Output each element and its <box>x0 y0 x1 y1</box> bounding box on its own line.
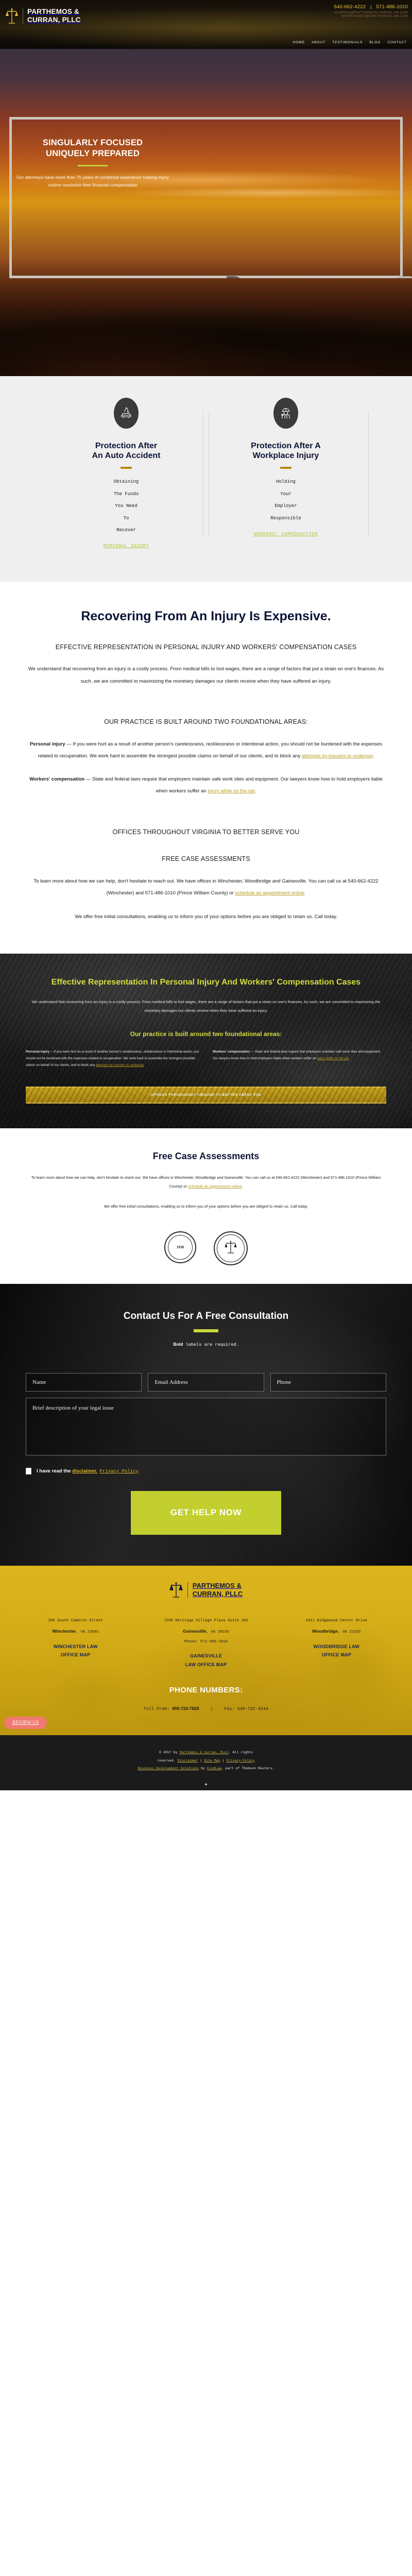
card-word: Your <box>217 488 354 500</box>
card-word: Responsible <box>217 513 354 524</box>
footer-privacy-link[interactable]: Privacy Policy <box>227 1759 255 1762</box>
hero-title-line-1: SINGULARLY FOCUSED <box>43 138 143 147</box>
business-development-link[interactable]: Business Development Solutions <box>138 1767 199 1770</box>
header-phone-2[interactable]: 571-486-1010 <box>376 4 408 10</box>
office-gainesville: 7250 Heritage Village Plaza Suite 202 Ga… <box>141 1616 271 1669</box>
personal-injury-paragraph: Personal injury — If you were hurt as a … <box>26 738 386 762</box>
association-seal-icon: 1938 <box>164 1231 196 1263</box>
car-fire-icon <box>114 398 139 429</box>
practice-areas-heading: OUR PRACTICE IS BUILT AROUND TWO FOUNDAT… <box>26 717 386 727</box>
office-map-link[interactable]: GAINESVILLE LAW OFFICE MAP <box>145 1652 267 1669</box>
header-phone-1[interactable]: 540-662-4222 <box>334 4 366 10</box>
name-field-placeholder: Name <box>32 1379 46 1385</box>
association-badges: 1938 <box>31 1231 381 1265</box>
dark-pi-paragraph: Personal injury —If you were hurt as a r… <box>26 1049 199 1069</box>
footer-scales-of-justice-icon <box>169 1581 183 1599</box>
site-header: PARTHEMOS & CURRAN, PLLC 540-662-4222 | … <box>0 0 412 49</box>
map-link-line-1: WOODBRIDGE LAW <box>314 1644 359 1649</box>
offices-heading: OFFICES THROUGHOUT VIRGINIA TO BETTER SE… <box>26 827 386 837</box>
hero-accent-rule <box>78 165 108 166</box>
nav-item-about[interactable]: ABOUT <box>312 41 325 44</box>
copyright-firm-link[interactable]: Parthemos & Curran, PLLC <box>180 1751 229 1754</box>
office-addresses: 206 South Cameron Street Winchester, VA … <box>10 1616 402 1669</box>
dark-section-heading: Effective Representation In Personal Inj… <box>26 976 386 988</box>
consent-text-lead: I have read the <box>37 1468 72 1474</box>
contact-heading: Contact Us For A Free Consultation <box>26 1311 386 1322</box>
card-word: To <box>58 513 195 524</box>
header-contact: 540-662-4222 | 571-486-1010 JCURRAN@PART… <box>334 4 408 18</box>
phone-separator: | <box>370 4 372 10</box>
name-field[interactable]: Name <box>26 1373 142 1392</box>
card-word: Obtaining <box>58 476 195 488</box>
attorneys-photo <box>227 120 412 278</box>
practice-card-workplace-injury: Protection After A Workplace Injury Hold… <box>206 398 366 550</box>
wc-inline-link[interactable]: injury while on the job <box>208 788 254 794</box>
by-text: by <box>199 1767 207 1770</box>
brand-line-1: PARTHEMOS & <box>27 8 79 15</box>
hero-title-line-2: UNIQUELY PREPARED <box>46 149 140 158</box>
card-link-personal-injury[interactable]: PERSONAL INJURY <box>104 544 149 549</box>
content-intro-paragraph: We understand that recovering from an in… <box>26 663 386 687</box>
toll-free-number[interactable]: 800-724-7828 <box>172 1706 199 1711</box>
privacy-policy-link[interactable]: Privacy Policy <box>99 1469 139 1474</box>
assessments-paragraph: To learn more about how we can help, don… <box>31 1173 381 1191</box>
card-title-line-1: Protection After <box>95 442 157 450</box>
copyright-line-3: Business Development Solutions by FindLa… <box>0 1765 412 1773</box>
dark-section-intro: We understand that recovering from an in… <box>26 997 386 1015</box>
brand-line-2: CURRAN, PLLC <box>27 16 81 24</box>
practice-card-title: Protection After A Workplace Injury <box>217 441 354 461</box>
map-link-line-2: OFFICE MAP <box>322 1652 352 1657</box>
office-state-zip: , VA 22601 <box>76 1630 99 1634</box>
wc-label: Workers' compensation <box>29 776 84 782</box>
map-link-line-1: GAINESVILLE <box>190 1653 222 1658</box>
assessments-consult-paragraph: We offer free initial consultations, ena… <box>31 1202 381 1211</box>
footer-disclaimer-link[interactable]: Disclaimer <box>178 1759 198 1762</box>
card-title-line-2: Workplace Injury <box>253 451 319 460</box>
dark-practice-heading: Our practice is built around two foundat… <box>26 1030 386 1038</box>
phone-line-separator: | <box>210 1706 213 1711</box>
dark-wc-link[interactable]: injury while on the job <box>317 1057 349 1060</box>
office-state-zip: , VA 22192 <box>338 1630 360 1634</box>
required-fields-note: Bold labels are required. <box>26 1342 386 1347</box>
office-city-state: Winchester, VA 22601 <box>14 1626 136 1637</box>
header-email-1[interactable]: JCURRAN@PARTHEMOSCURRANLAW.COM <box>334 11 408 14</box>
practice-card-auto-accident: Protection After An Auto Accident Obtain… <box>46 398 206 550</box>
card-link-workers-compensation[interactable]: WORKERS' COMPENSATION <box>254 532 318 537</box>
card-accent-rule <box>121 467 132 469</box>
map-link-line-2: LAW OFFICE MAP <box>185 1662 227 1667</box>
pi-inline-link[interactable]: attempts by insurers to underpay <box>302 753 373 759</box>
practice-cards-section: Protection After An Auto Accident Obtain… <box>0 376 412 582</box>
scales-of-justice-icon <box>5 7 19 25</box>
content-heading: Recovering From An Injury Is Expensive. <box>26 608 386 624</box>
pi-label: Personal injury <box>30 741 65 747</box>
office-city-state: Woodbridge, VA 22192 <box>276 1626 398 1637</box>
disclaimer-link[interactable]: disclaimer. <box>72 1468 97 1474</box>
card-title-line-1: Protection After A <box>251 442 321 450</box>
hero-title: SINGULARLY FOCUSED UNIQUELY PREPARED <box>15 138 170 159</box>
footer-brand-name: PARTHEMOS & CURRAN, PLLC <box>193 1582 243 1598</box>
assessments-schedule-link[interactable]: schedule an appointment online <box>188 1184 242 1189</box>
footer-phone-line: Toll Free: 800-724-7828|Fax: 540-722-924… <box>10 1706 402 1711</box>
main-content-section: Recovering From An Injury Is Expensive. … <box>0 582 412 954</box>
dark-wc-paragraph: Workers' compensation — State and federa… <box>213 1049 386 1062</box>
dark-highlight-section: Effective Representation In Personal Inj… <box>0 954 412 1128</box>
reach-out-body: To learn more about how we can help, don… <box>33 878 378 896</box>
card-accent-rule <box>280 467 291 469</box>
contact-form-section: Contact Us For A Free Consultation Bold … <box>0 1284 412 1566</box>
practice-card-title: Protection After An Auto Accident <box>58 441 195 461</box>
review-us-button[interactable]: REVIEW US <box>4 1717 47 1729</box>
header-phone-row: 540-662-4222 | 571-486-1010 <box>334 4 408 10</box>
dark-column-personal-injury: Personal injury —If you were hurt as a r… <box>26 1049 199 1069</box>
office-city-state: Gainesville, VA 20155 <box>145 1626 267 1637</box>
office-woodbridge: 4311 Ridgewood Center Drive Woodbridge, … <box>271 1616 402 1669</box>
message-textarea[interactable]: Brief description of your legal issue <box>26 1398 386 1455</box>
toll-free-label: Toll Free: <box>144 1706 172 1711</box>
office-state-zip: , VA 20155 <box>207 1630 229 1634</box>
email-field[interactable]: Email Address <box>148 1373 264 1392</box>
site-logo[interactable]: PARTHEMOS & CURRAN, PLLC <box>5 7 81 25</box>
header-email-2[interactable]: NPARTHEMOS@PARTHEMOSLAW.COM <box>334 14 408 18</box>
copyright-prefix: © 2017 by <box>159 1751 180 1754</box>
reach-out-paragraph: To learn more about how we can help, don… <box>26 875 386 900</box>
consultation-paragraph: We offer free initial consultations, ena… <box>26 911 386 923</box>
copyright-line-1: © 2017 by Parthemos & Curran, PLLC. All … <box>0 1749 412 1757</box>
consent-row: I have read the disclaimer.Privacy Polic… <box>26 1468 386 1475</box>
office-map-link[interactable]: WINCHESTER LAW OFFICE MAP <box>14 1642 136 1659</box>
office-map-link[interactable]: WOODBRIDGE LAW OFFICE MAP <box>276 1642 398 1659</box>
bar-association-seal-icon <box>214 1231 248 1265</box>
copyright-suffix: . All rights <box>229 1751 253 1754</box>
header-email-row: JCURRAN@PARTHEMOSCURRANLAW.COM NPARTHEMO… <box>334 11 408 18</box>
hero-subtitle: Our attorneys have more than 75 years of… <box>15 174 170 189</box>
dark-pi-link[interactable]: attempts by insurers to underpay <box>96 1063 144 1067</box>
offices-banner: OFFICES THROUGHOUT VIRGINIA TO BETTER SE… <box>26 1087 386 1104</box>
consent-label: I have read the disclaimer.Privacy Polic… <box>37 1468 139 1474</box>
brand-divider <box>23 8 23 24</box>
contact-field-row: Name Email Address Phone <box>26 1373 386 1392</box>
nav-item-blog[interactable]: BLOG <box>369 41 381 44</box>
card-word: Holding <box>217 476 354 488</box>
card-title-line-2: An Auto Accident <box>92 451 160 460</box>
copyright-bar: © 2017 by Parthemos & Curran, PLLC. All … <box>0 1735 412 1790</box>
office-city: Winchester <box>52 1629 76 1634</box>
copyright-line-2: reserved. Disclaimer | Site Map | Privac… <box>0 1757 412 1765</box>
get-help-now-button[interactable]: GET HELP NOW <box>131 1491 281 1535</box>
fax-number: Fax: 540-722-9244 <box>225 1706 268 1711</box>
dark-wc-label: Workers' compensation <box>213 1050 250 1054</box>
assessments-heading: Free Case Assessments <box>31 1151 381 1162</box>
phone-field-placeholder: Phone <box>277 1379 291 1385</box>
site-footer: PARTHEMOS & CURRAN, PLLC 206 South Camer… <box>0 1566 412 1735</box>
office-street: 206 South Cameron Street <box>14 1616 136 1626</box>
required-note-rest: labels are required. <box>183 1342 238 1347</box>
back-to-top-icon[interactable]: ▲ <box>204 1782 208 1786</box>
card-word: Recover <box>58 524 195 536</box>
office-city: Woodbridge <box>312 1629 338 1634</box>
footer-logo[interactable]: PARTHEMOS & CURRAN, PLLC <box>10 1581 402 1599</box>
nav-item-contact[interactable]: CONTACT <box>387 41 407 44</box>
hero-banner: SINGULARLY FOCUSED UNIQUELY PREPARED Our… <box>0 49 412 376</box>
main-navigation: HOME ABOUT TESTIMONIALS BLOG CONTACT <box>293 41 407 44</box>
office-street: 7250 Heritage Village Plaza Suite 202 <box>145 1616 267 1626</box>
findlaw-link[interactable]: FindLaw <box>207 1767 221 1770</box>
office-city: Gainesville <box>183 1629 206 1634</box>
office-winchester: 206 South Cameron Street Winchester, VA … <box>10 1616 141 1669</box>
free-assessments-section: Free Case Assessments To learn more abou… <box>0 1128 412 1284</box>
phone-field[interactable]: Phone <box>270 1373 386 1392</box>
card-word-list: Obtaining The Funds You Need To Recover <box>58 476 195 536</box>
disclaimer-checkbox[interactable] <box>26 1468 31 1475</box>
free-assessments-heading: FREE CASE ASSESSMENTS <box>26 854 386 864</box>
nav-item-home[interactable]: HOME <box>293 41 305 44</box>
hero-copy: SINGULARLY FOCUSED UNIQUELY PREPARED Our… <box>15 138 170 189</box>
phone-numbers-heading: PHONE NUMBERS: <box>10 1686 402 1694</box>
required-bold-word: Bold <box>173 1342 183 1347</box>
footer-brand-line-2: CURRAN, PLLC <box>193 1590 243 1598</box>
map-link-line-1: WINCHESTER LAW <box>54 1644 98 1649</box>
contact-accent-rule <box>194 1329 218 1332</box>
content-subheading: EFFECTIVE REPRESENTATION IN PERSONAL INJ… <box>26 642 386 652</box>
card-word: You Need <box>58 500 195 512</box>
brand-name: PARTHEMOS & CURRAN, PLLC <box>27 8 81 24</box>
map-link-line-2: OFFICE MAP <box>61 1652 91 1657</box>
reserved-text: reserved. <box>157 1759 178 1762</box>
schedule-appointment-link[interactable]: schedule an appointment online <box>235 890 304 896</box>
email-field-placeholder: Email Address <box>154 1379 187 1385</box>
office-street: 4311 Ridgewood Center Drive <box>276 1616 398 1626</box>
message-placeholder: Brief description of your legal issue <box>32 1405 114 1411</box>
card-word-list: Holding Your Employer Responsible <box>217 476 354 524</box>
dark-pi-label: Personal injury <box>26 1050 49 1054</box>
worker-helmet-icon <box>273 398 298 429</box>
office-phone[interactable]: Phone: 571-486-1010 <box>145 1637 267 1647</box>
card-word: Employer <box>217 500 354 512</box>
nav-item-testimonials[interactable]: TESTIMONIALS <box>332 41 363 44</box>
thomson-reuters-text: , part of Thomson Reuters. <box>221 1767 274 1770</box>
card-word: The Funds <box>58 488 195 500</box>
footer-brand-line-1: PARTHEMOS & <box>193 1582 242 1589</box>
workers-comp-paragraph: Workers' compensation — State and federa… <box>26 773 386 798</box>
footer-brand-divider <box>187 1582 188 1598</box>
footer-sitemap-link[interactable]: Site Map <box>204 1759 220 1762</box>
dark-column-workers-comp: Workers' compensation — State and federa… <box>213 1049 386 1069</box>
